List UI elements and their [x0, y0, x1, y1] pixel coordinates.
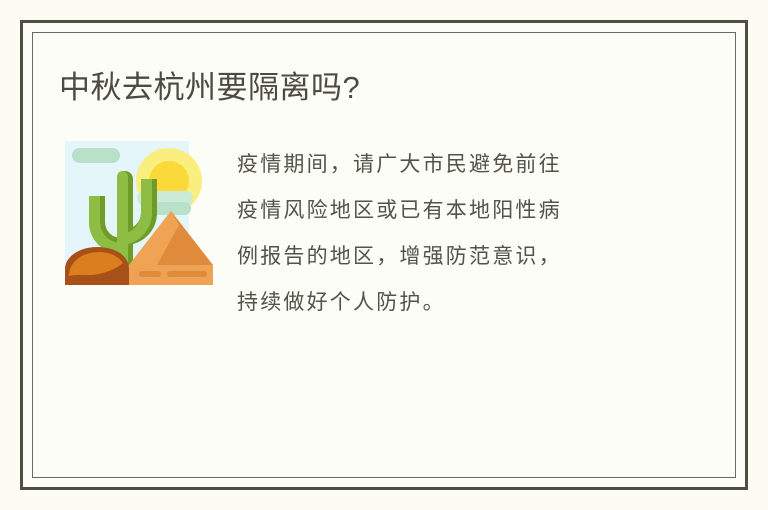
card-inner-frame: 中秋去杭州要隔离吗?: [32, 32, 736, 478]
body-line: 例报告的地区，增强防范意识，: [237, 233, 657, 279]
body-line: 疫情期间，请广大市民避免前往: [237, 141, 657, 187]
page-title: 中秋去杭州要隔离吗?: [59, 68, 360, 108]
ground-dash-right: [167, 271, 207, 277]
article-body: 疫情期间，请广大市民避免前往 疫情风险地区或已有本地阳性病 例报告的地区，增强防…: [237, 141, 657, 325]
desert-cactus-illustration: [61, 139, 213, 291]
cloud-top-left: [72, 148, 120, 163]
body-line: 疫情风险地区或已有本地阳性病: [237, 187, 657, 233]
body-line: 持续做好个人防护。: [237, 279, 657, 325]
card-body: 中秋去杭州要隔离吗?: [33, 33, 735, 477]
page-root: 中秋去杭州要隔离吗?: [0, 0, 768, 510]
card-outer-frame: 中秋去杭州要隔离吗?: [20, 20, 748, 490]
ground-dash-left: [139, 271, 161, 277]
